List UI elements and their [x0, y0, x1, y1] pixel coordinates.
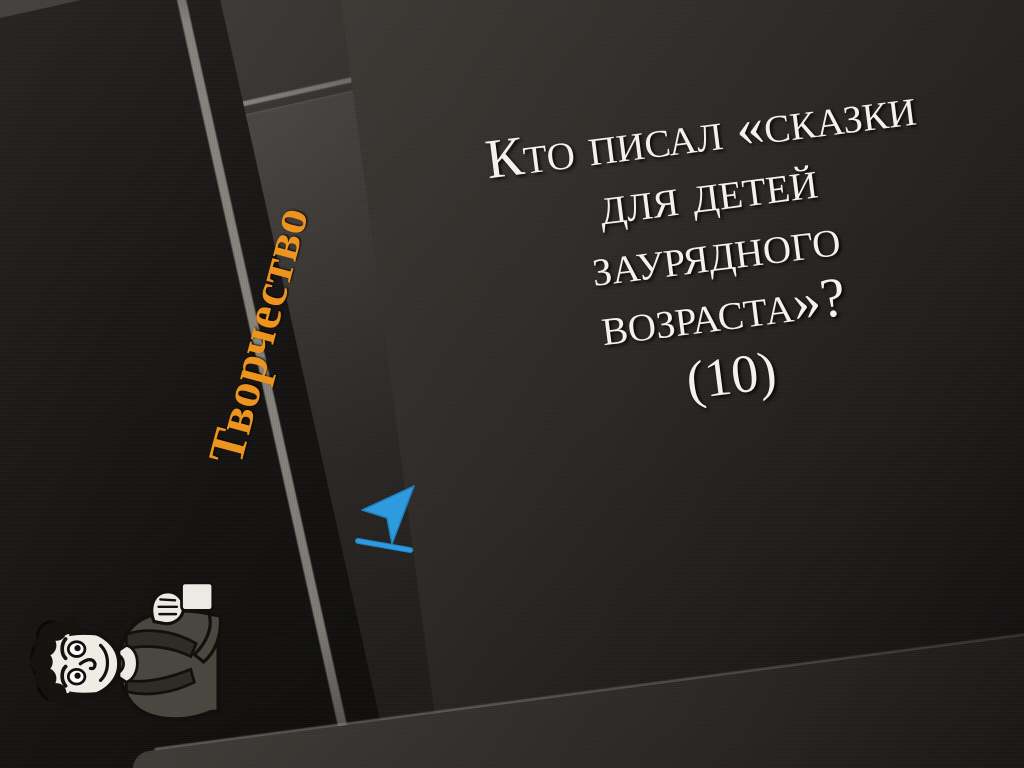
blue-arrow-icon — [352, 478, 442, 568]
pushkin-cartoon-portrait — [30, 565, 270, 765]
presentation-slide: Творчество Кто писал «сказки для детей з… — [0, 0, 1024, 768]
